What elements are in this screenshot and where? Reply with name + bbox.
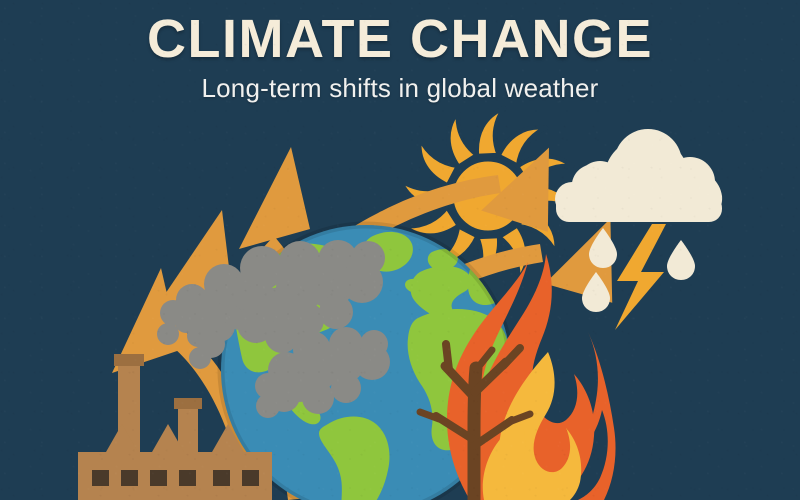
climate-change-poster: CLIMATE CHANGE Long-term shifts in globa… bbox=[0, 0, 800, 500]
factory-window bbox=[92, 470, 109, 486]
factory-window bbox=[121, 470, 138, 486]
factory-window bbox=[179, 470, 196, 486]
factory-window bbox=[242, 470, 259, 486]
factory-group bbox=[78, 354, 272, 500]
heading-block: CLIMATE CHANGE Long-term shifts in globa… bbox=[0, 0, 800, 104]
page-title: CLIMATE CHANGE bbox=[0, 12, 800, 67]
factory-smokestack-tall-cap bbox=[114, 354, 144, 366]
factory-window bbox=[213, 470, 230, 486]
factory-smokestack-short-cap bbox=[174, 398, 202, 409]
page-subtitle: Long-term shifts in global weather bbox=[0, 73, 800, 104]
factory-window bbox=[150, 470, 167, 486]
